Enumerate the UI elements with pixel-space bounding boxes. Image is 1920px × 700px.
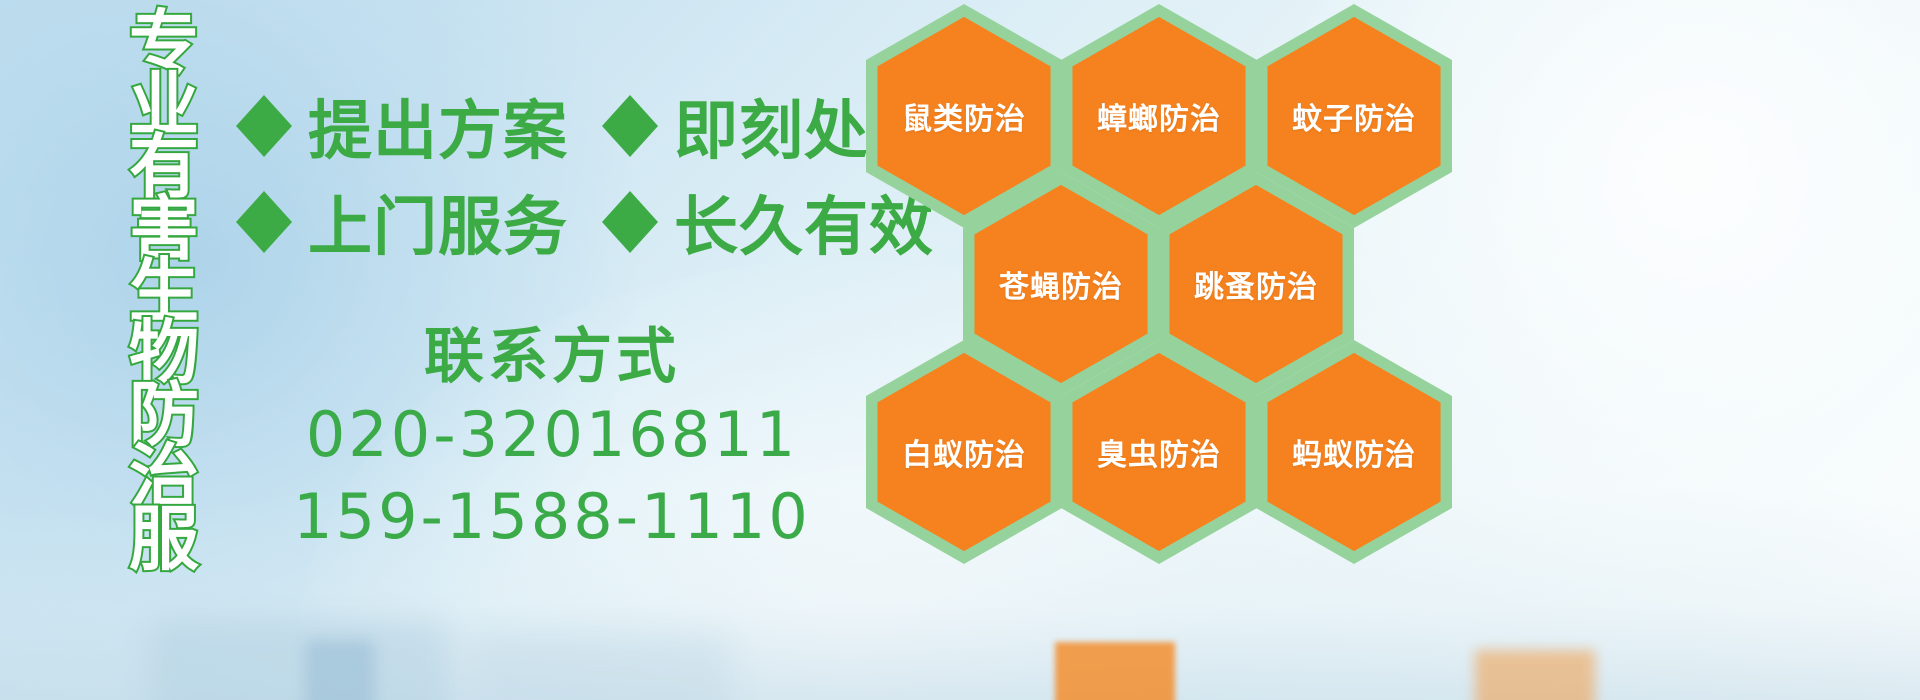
contact-phone-landline[interactable]: 020-32016811 [232, 394, 872, 476]
service-honeycomb: 鼠类防治 蟑螂防治 蚊子防治 苍蝇防治 跳蚤防治 白蚁防治 [862, 0, 1462, 596]
background-orange-accent [1475, 650, 1595, 700]
contact-block: 联系方式 020-32016811 159-1588-1110 [232, 320, 872, 558]
feature-row: 上门服务 长久有效 [232, 174, 872, 270]
contact-phone-mobile[interactable]: 159-1588-1110 [232, 476, 872, 558]
pest-control-banner: 专 业 有 害 生 物 防 治 服 提出方案 [0, 0, 1920, 700]
feature-label: 提出方案 [308, 80, 568, 172]
feature-item: 上门服务 [232, 176, 568, 268]
diamond-icon [598, 94, 662, 158]
background-blur-shape [150, 620, 450, 700]
diamond-icon [232, 190, 296, 254]
vertical-slogan: 专 业 有 害 生 物 防 治 服 [112, 12, 216, 572]
background-blur-shape [305, 640, 375, 700]
hex-label: 蟑螂防治 [1061, 94, 1257, 138]
background-orange-accent [1055, 642, 1175, 700]
contact-title: 联系方式 [232, 320, 872, 394]
feature-item: 提出方案 [232, 80, 568, 172]
hex-label: 臭虫防治 [1061, 430, 1257, 474]
hex-service-ant[interactable]: 蚂蚁防治 [1256, 340, 1452, 564]
feature-row: 提出方案 即刻处理 [232, 78, 872, 174]
hex-label: 白蚁防治 [866, 430, 1062, 474]
background-blur-shape [470, 635, 730, 700]
diamond-icon [232, 94, 296, 158]
hex-label: 跳蚤防治 [1158, 262, 1354, 306]
hex-label: 蚊子防治 [1256, 94, 1452, 138]
diamond-icon [598, 190, 662, 254]
hex-service-bedbug[interactable]: 臭虫防治 [1061, 340, 1257, 564]
feature-list: 提出方案 即刻处理 上门服务 [232, 78, 872, 270]
vertical-slogan-char: 服 [129, 508, 199, 570]
hex-service-termite[interactable]: 白蚁防治 [866, 340, 1062, 564]
hex-label: 蚂蚁防治 [1256, 430, 1452, 474]
feature-label: 上门服务 [308, 176, 568, 268]
hex-label: 鼠类防治 [866, 94, 1062, 138]
hex-label: 苍蝇防治 [963, 262, 1159, 306]
